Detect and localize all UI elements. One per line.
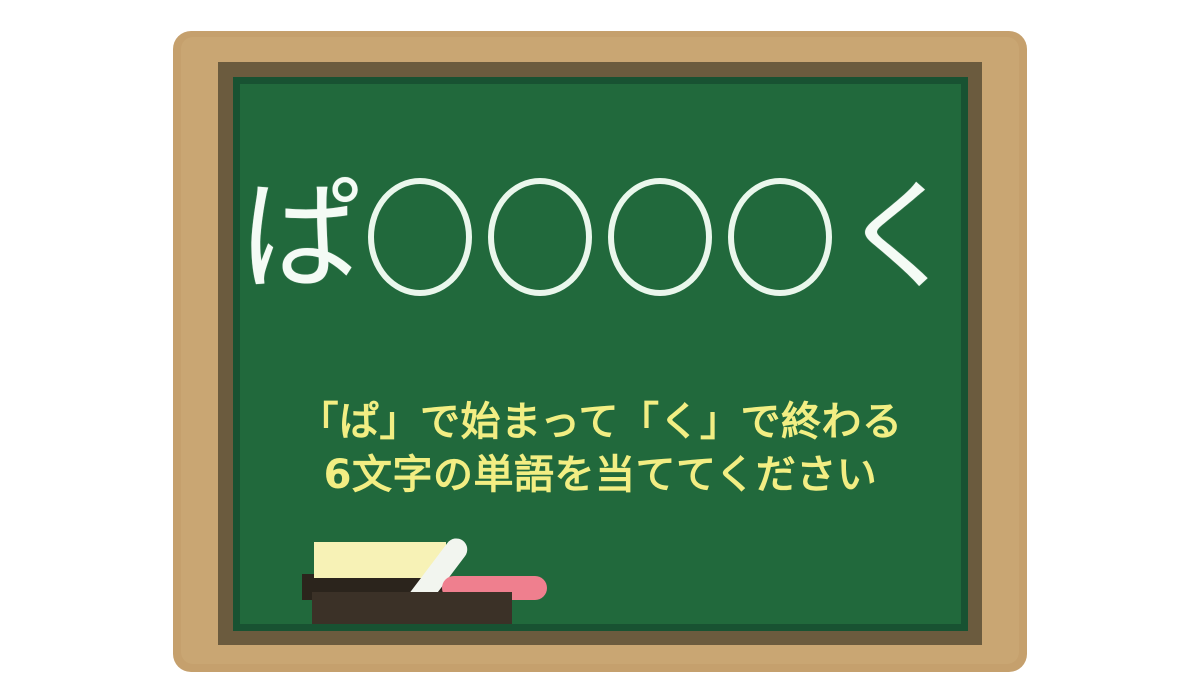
instruction-text: 「ぱ」で始まって「く」で終わる 6文字の単語を当ててください [240, 396, 961, 502]
puzzle-char-last: く [841, 178, 961, 298]
puzzle-blank-3[interactable] [599, 176, 723, 300]
puzzle-char-first: ぱ [241, 178, 361, 298]
blank-circle-icon [608, 178, 712, 296]
chalkboard-frame: ぱ く 「ぱ」で始まって「く」で終わる [173, 31, 1027, 672]
blank-circle-icon [728, 178, 832, 296]
puzzle-blank-2[interactable] [479, 176, 603, 300]
chalkboard-edge: ぱ く 「ぱ」で始まって「く」で終わる [233, 77, 968, 631]
blank-circle-icon [488, 178, 592, 296]
chalkboard-inner-border: ぱ く 「ぱ」で始まって「く」で終わる [218, 62, 982, 645]
instruction-line-2: 6文字の単語を当ててください [240, 449, 961, 502]
instruction-line-1: 「ぱ」で始まって「く」で終わる [240, 396, 961, 449]
puzzle-blank-4[interactable] [719, 176, 843, 300]
blank-circle-icon [368, 178, 472, 296]
chalk-tray [302, 530, 582, 624]
chalkboard-surface: ぱ く 「ぱ」で始まって「く」で終わる [240, 84, 961, 624]
puzzle-blank-1[interactable] [359, 176, 483, 300]
puzzle-word-line: ぱ く [240, 176, 961, 300]
chalk-tray-box [312, 592, 512, 624]
